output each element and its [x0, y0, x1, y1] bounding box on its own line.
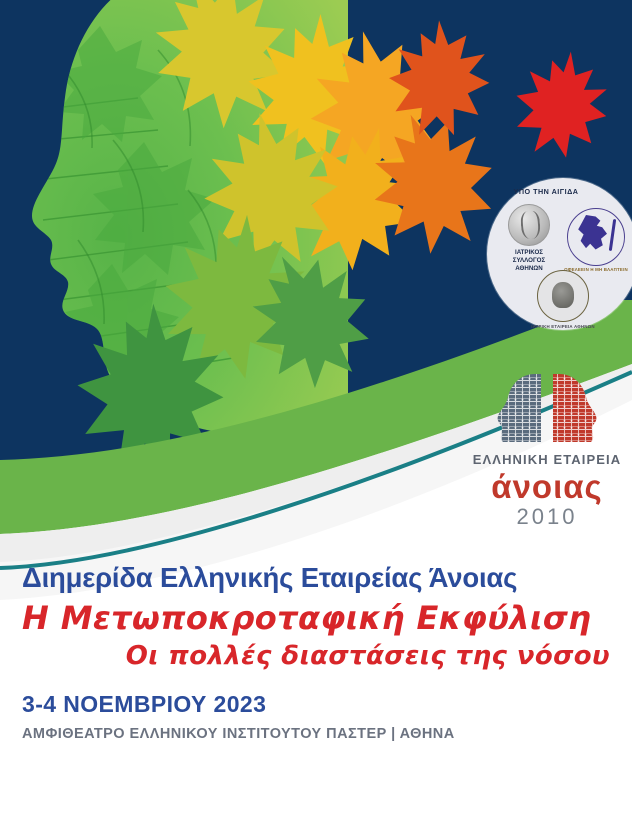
event-venue: ΑΜΦΙΘΕΑΤΡΟ ΕΛΛΗΝΙΚΟΥ ΙΝΣΤΙΤΟΥΤΟΥ ΠΑΣΤΕΡ … [22, 724, 632, 744]
logo-line-anoias: άνοιας [462, 469, 632, 505]
logo-line-society: ΕΛΛΗΝΙΚΗ ΕΤΑΙΡΕΙΑ [462, 452, 632, 467]
conference-poster: ΥΠΟ ΤΗΝ ΑΙΓΙΔΑ ΙΑΤΡΙΚΟΣ ΣΥΛΛΟΓΟΣ ΑΘΗΝΩΝ … [0, 0, 632, 825]
org-medical-society-of-athens: ΙΑΤΡΙΚΗ ΕΤΑΙΡΕΙΑ ΑΘΗΝΩΝ [515, 270, 611, 329]
two-head-profiles-icon [491, 370, 603, 446]
logo-line-year: 2010 [462, 505, 632, 529]
subtitle-main: Η Μετωποκροταφική Εκφύλιση [22, 598, 632, 638]
maple-leaf-icon [376, 14, 494, 141]
org-athens-medical-association: ΙΑΤΡΙΚΟΣ ΣΥΛΛΟΓΟΣ ΑΘΗΝΩΝ [493, 204, 565, 273]
org-panhellenic-medical-association: ΩΦΕΛΕΕΙΝ Η ΜΗ ΒΛΑΠΤΕΙΝ [561, 208, 631, 272]
auspices-badge: ΥΠΟ ΤΗΝ ΑΙΓΙΔΑ ΙΑΤΡΙΚΟΣ ΣΥΛΛΟΓΟΣ ΑΘΗΝΩΝ … [487, 178, 632, 330]
greek-dementia-society-logo: ΕΛΛΗΝΙΚΗ ΕΤΑΙΡΕΙΑ άνοιας 2010 [462, 370, 632, 529]
medical-seal-icon [508, 204, 550, 246]
hippocrates-bust-icon [537, 270, 589, 322]
subtitle-secondary: Οι πολλές διαστάσεις της νόσου [0, 638, 610, 674]
org-c-caption: ΙΑΤΡΙΚΗ ΕΤΑΙΡΕΙΑ ΑΘΗΝΩΝ [515, 324, 611, 329]
poster-text-block: Διημερίδα Ελληνικής Εταιρείας Άνοιας Η Μ… [0, 560, 632, 744]
greece-map-icon [567, 208, 625, 266]
org-a-line2: ΣΥΛΛΟΓΟΣ [493, 257, 565, 265]
event-dates: 3-4 ΝΟΕΜΒΡΙΟΥ 2023 [22, 690, 632, 718]
page-title: Διημερίδα Ελληνικής Εταιρείας Άνοιας [22, 560, 632, 596]
org-a-line1: ΙΑΤΡΙΚΟΣ [493, 249, 565, 257]
auspices-heading: ΥΠΟ ΤΗΝ ΑΙΓΙΔΑ [487, 187, 605, 196]
maple-leaf-icon [496, 38, 620, 169]
